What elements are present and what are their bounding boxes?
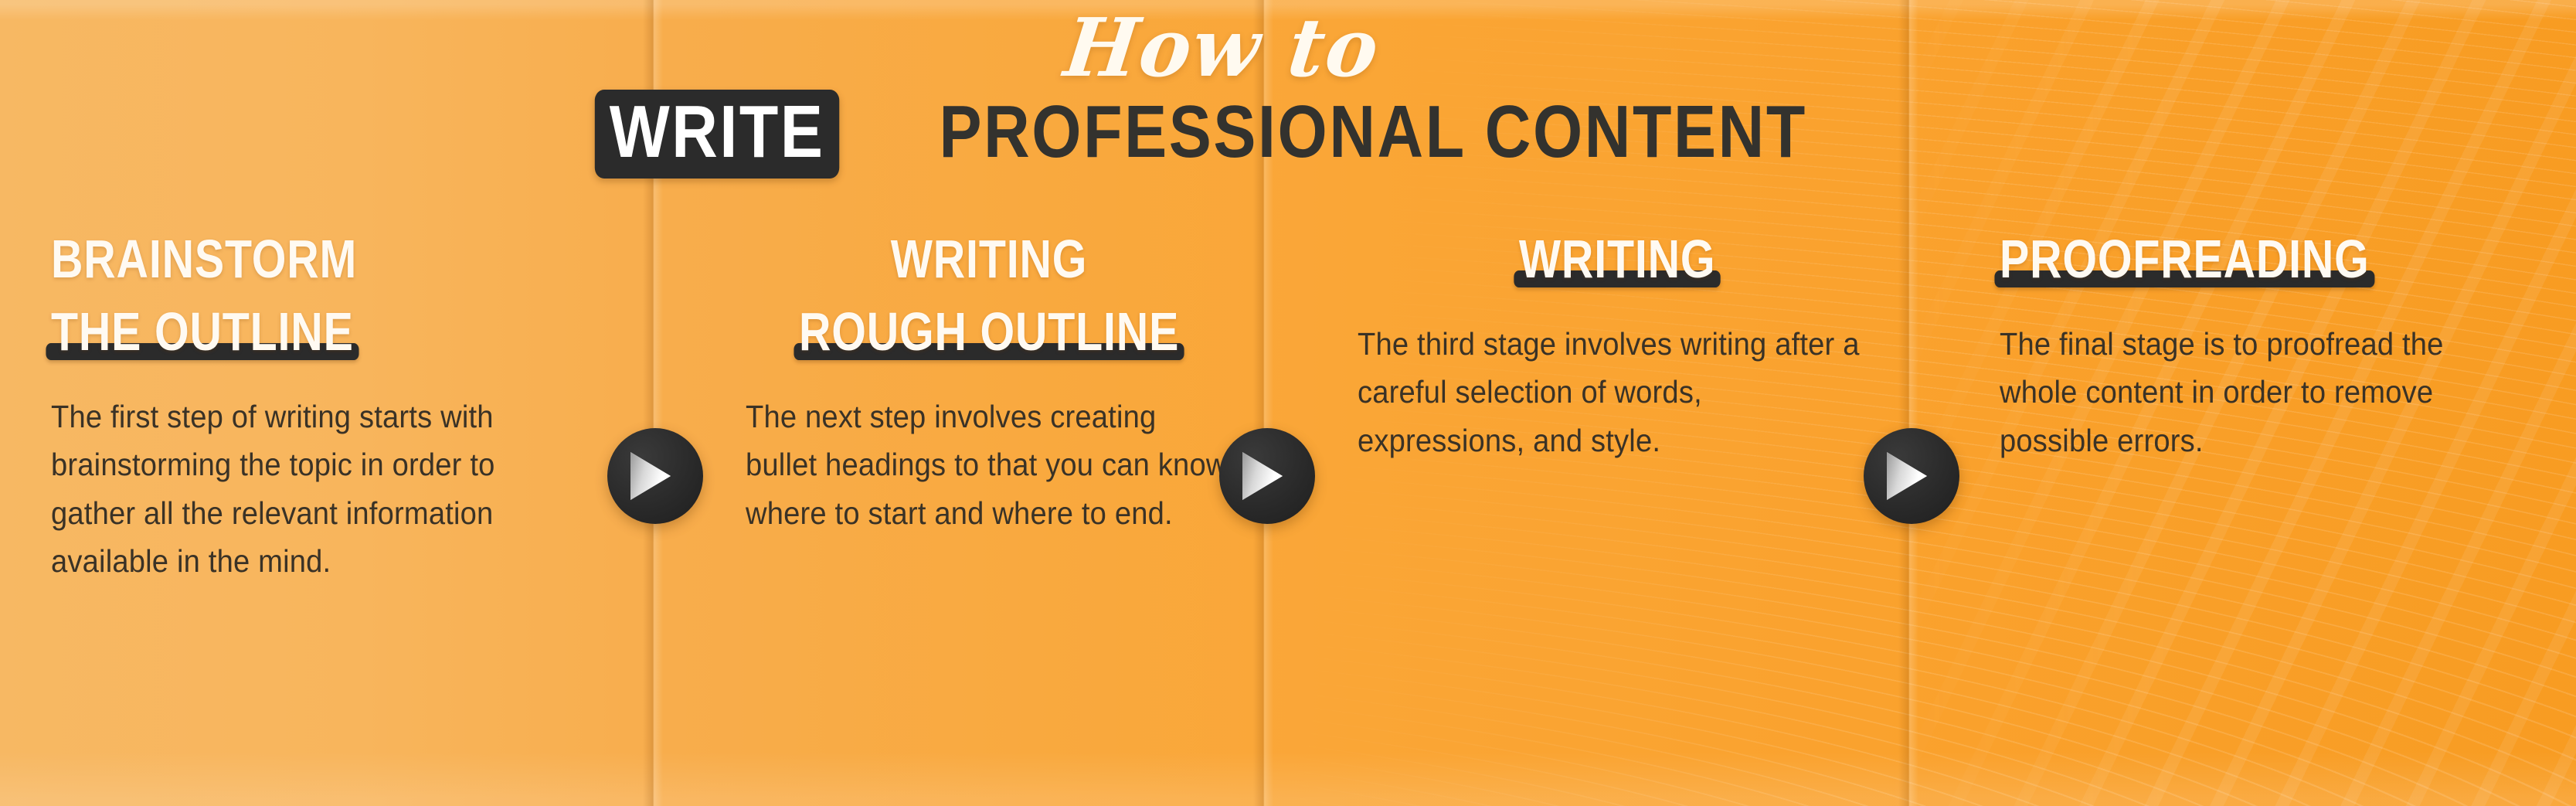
step-heading-2: WRITING ROUGH OUTLINE (746, 232, 1232, 359)
step-heading-2-line-2: ROUGH OUTLINE (799, 304, 1179, 359)
step-arrow-2 (1219, 428, 1315, 524)
play-triangle-right-icon (630, 452, 671, 500)
step-card-brainstorm: BRAINSTORM THE OUTLINE The first step of… (0, 0, 653, 806)
step-heading-3: WRITING (1358, 232, 1878, 286)
infographic-canvas: How to WRITEPROFESSIONAL CONTENT BRAINST… (0, 0, 2576, 806)
play-triangle-right-icon (1242, 452, 1283, 500)
step-body-3: The third stage involves writing after a… (1358, 320, 1861, 464)
step-heading-3-line-1: WRITING (1519, 232, 1715, 286)
step-heading-1-line-1: BRAINSTORM (51, 232, 509, 286)
play-triangle-right-icon (1887, 452, 1927, 500)
step-heading-4: PROOFREADING (2000, 232, 2553, 286)
step-body-2: The next step involves creating bullet h… (746, 393, 1234, 537)
step-card-writing-rough-outline: WRITING ROUGH OUTLINE The next step invo… (653, 0, 1263, 806)
step-heading-1: BRAINSTORM THE OUTLINE (51, 232, 610, 359)
step-card-proofreading: PROOFREADING The final stage is to proof… (1908, 0, 2576, 806)
step-card-writing: WRITING The third stage involves writing… (1263, 0, 1908, 806)
step-arrow-1 (607, 428, 703, 524)
step-heading-1-line-2: THE OUTLINE (51, 304, 354, 359)
step-arrow-3 (1864, 428, 1959, 524)
step-heading-4-line-1: PROOFREADING (2000, 232, 2370, 286)
step-body-1: The first step of writing starts with br… (51, 393, 583, 585)
step-heading-2-line-1: WRITING (790, 232, 1189, 286)
steps-row: BRAINSTORM THE OUTLINE The first step of… (0, 0, 2576, 806)
step-body-4: The final stage is to proofread the whol… (2000, 320, 2524, 464)
